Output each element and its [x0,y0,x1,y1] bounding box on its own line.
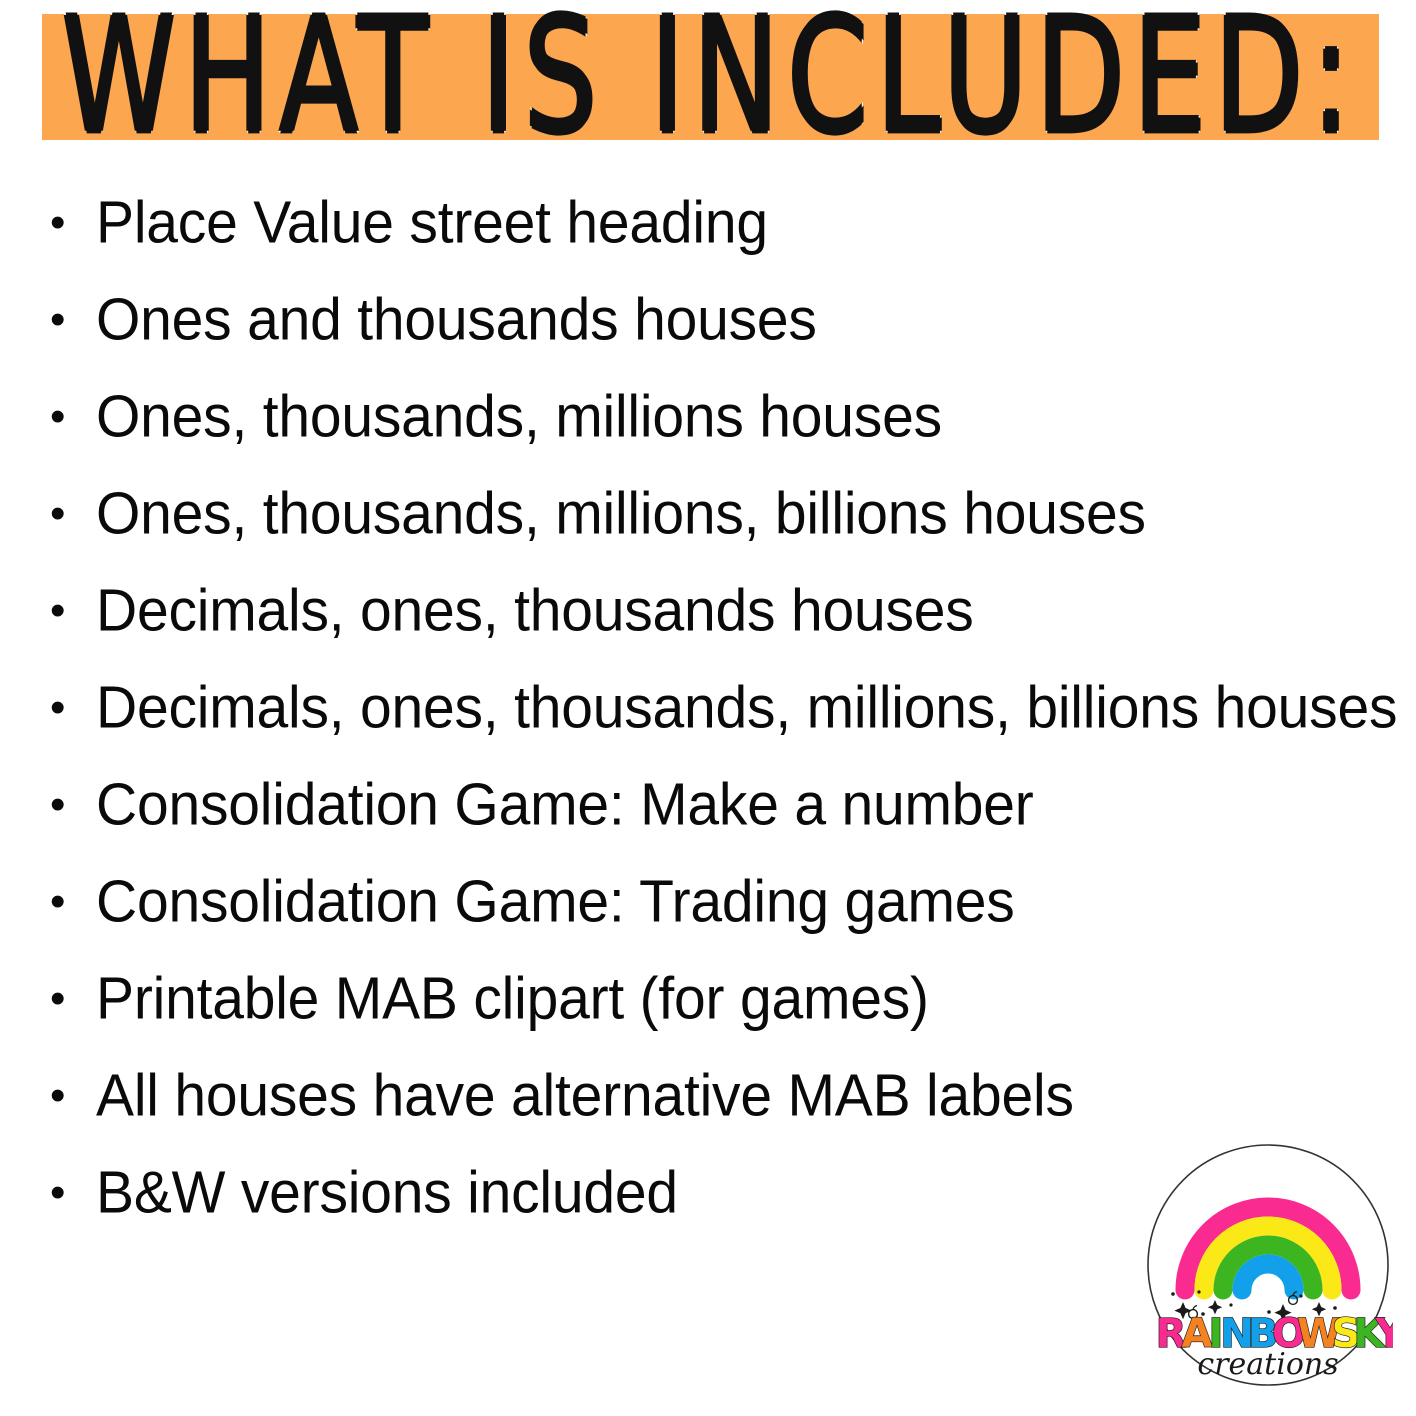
dot-doodle [1197,1290,1200,1293]
list-item-label: Consolidation Game: Trading games [96,873,1374,932]
list-item-label: Consolidation Game: Make a number [96,776,1374,835]
list-item-label: All houses have alternative MAB labels [96,1067,1374,1126]
list-item-label: Ones, thousands, millions houses [96,388,1374,447]
list-item: • Place Value street heading [44,196,1374,293]
dot-doodle [1229,1303,1232,1306]
list-item-label: Decimals, ones, thousands, millions, bil… [96,679,1397,738]
list-item: • Consolidation Game: Make a number [44,778,1374,875]
bullet-icon: • [44,589,96,633]
page-title: WHAT IS INCLUDED: [62,0,1359,156]
bullet-icon: • [44,298,96,342]
bullet-icon: • [44,686,96,730]
bullet-icon: • [44,395,96,439]
dot-doodle [1299,1294,1302,1297]
list-item: • Decimals, ones, thousands houses [44,584,1374,681]
list-item-label: Decimals, ones, thousands houses [96,582,1374,641]
bullet-icon: • [44,1074,96,1118]
brand-logo: R A I N B O W S K Y creations [1143,1142,1393,1392]
dot-doodle [1171,1292,1175,1296]
dot-doodle [1333,1306,1337,1310]
bullet-icon: • [44,880,96,924]
logo-script-text: creations [1197,1347,1338,1382]
bullet-icon: • [44,783,96,827]
list-item: • Printable MAB clipart (for games) [44,972,1374,1069]
list-item-label: Place Value street heading [96,194,1374,253]
header-banner: WHAT IS INCLUDED: [42,14,1379,140]
list-item-label: Ones and thousands houses [96,291,1374,350]
list-item: • Ones and thousands houses [44,293,1374,390]
list-item-label: Ones, thousands, millions, billions hous… [96,485,1374,544]
included-features-list: • Place Value street heading • Ones and … [44,196,1374,1263]
wordmark-letter-Y: Y [1375,1311,1393,1357]
list-item: • Decimals, ones, thousands, millions, b… [44,681,1374,778]
list-item: • Consolidation Game: Trading games [44,875,1374,972]
bullet-icon: • [44,1171,96,1215]
bullet-icon: • [44,492,96,536]
bullet-icon: • [44,201,96,245]
bullet-icon: • [44,977,96,1021]
list-item: • Ones, thousands, millions, billions ho… [44,487,1374,584]
list-item-label: Printable MAB clipart (for games) [96,970,1374,1029]
list-item: • Ones, thousands, millions houses [44,390,1374,487]
